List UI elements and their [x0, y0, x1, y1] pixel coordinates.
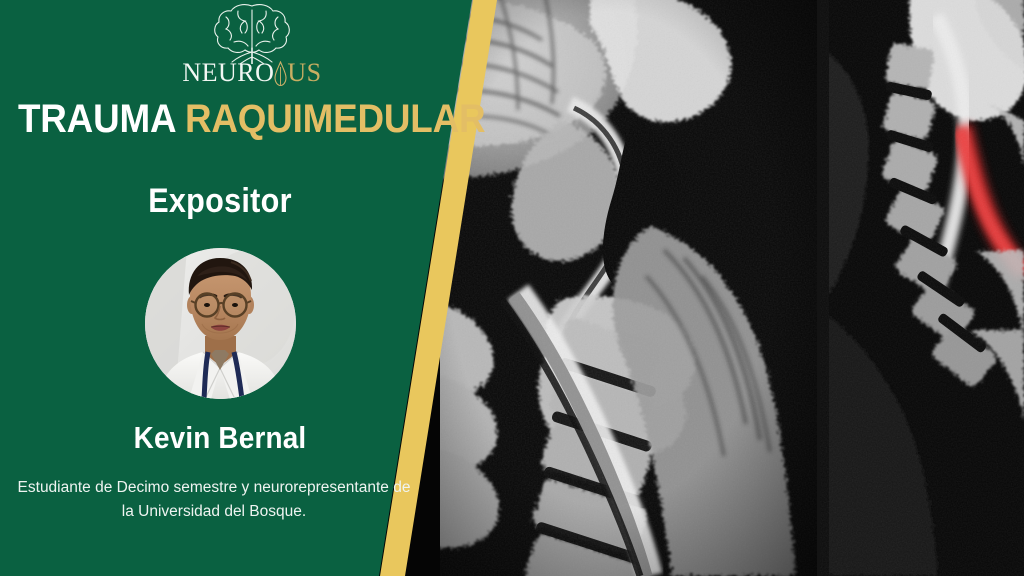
speaker-name: Kevin Bernal	[22, 420, 418, 456]
brand-drop-icon	[274, 60, 287, 87]
presentation-slide: NEURO US TRAUMA RAQUIMEDULAR Expositor	[0, 0, 1024, 576]
brain-tree-logo-icon	[204, 2, 300, 64]
cervical-spine-mri-sagittal-highlighted	[820, 0, 1024, 576]
brand-wordmark-neuro: NEURO	[182, 60, 274, 86]
speaker-bio: Estudiante de Decimo semestre y neurorep…	[14, 476, 414, 523]
title-part-raquimedular: RAQUIMEDULAR	[185, 97, 485, 141]
mri-panel-divider	[817, 0, 820, 576]
title-part-trauma: TRAUMA	[18, 97, 175, 141]
speaker-role-label: Expositor	[22, 182, 418, 221]
portrait-photo	[145, 248, 296, 399]
brand-logo: NEURO US	[0, 2, 504, 87]
brand-wordmark: NEURO US	[182, 60, 321, 87]
brand-wordmark-us: US	[287, 60, 321, 86]
page-title: TRAUMA RAQUIMEDULAR	[18, 97, 432, 142]
mri-panel-right	[820, 0, 1024, 576]
speaker-avatar	[145, 248, 296, 399]
